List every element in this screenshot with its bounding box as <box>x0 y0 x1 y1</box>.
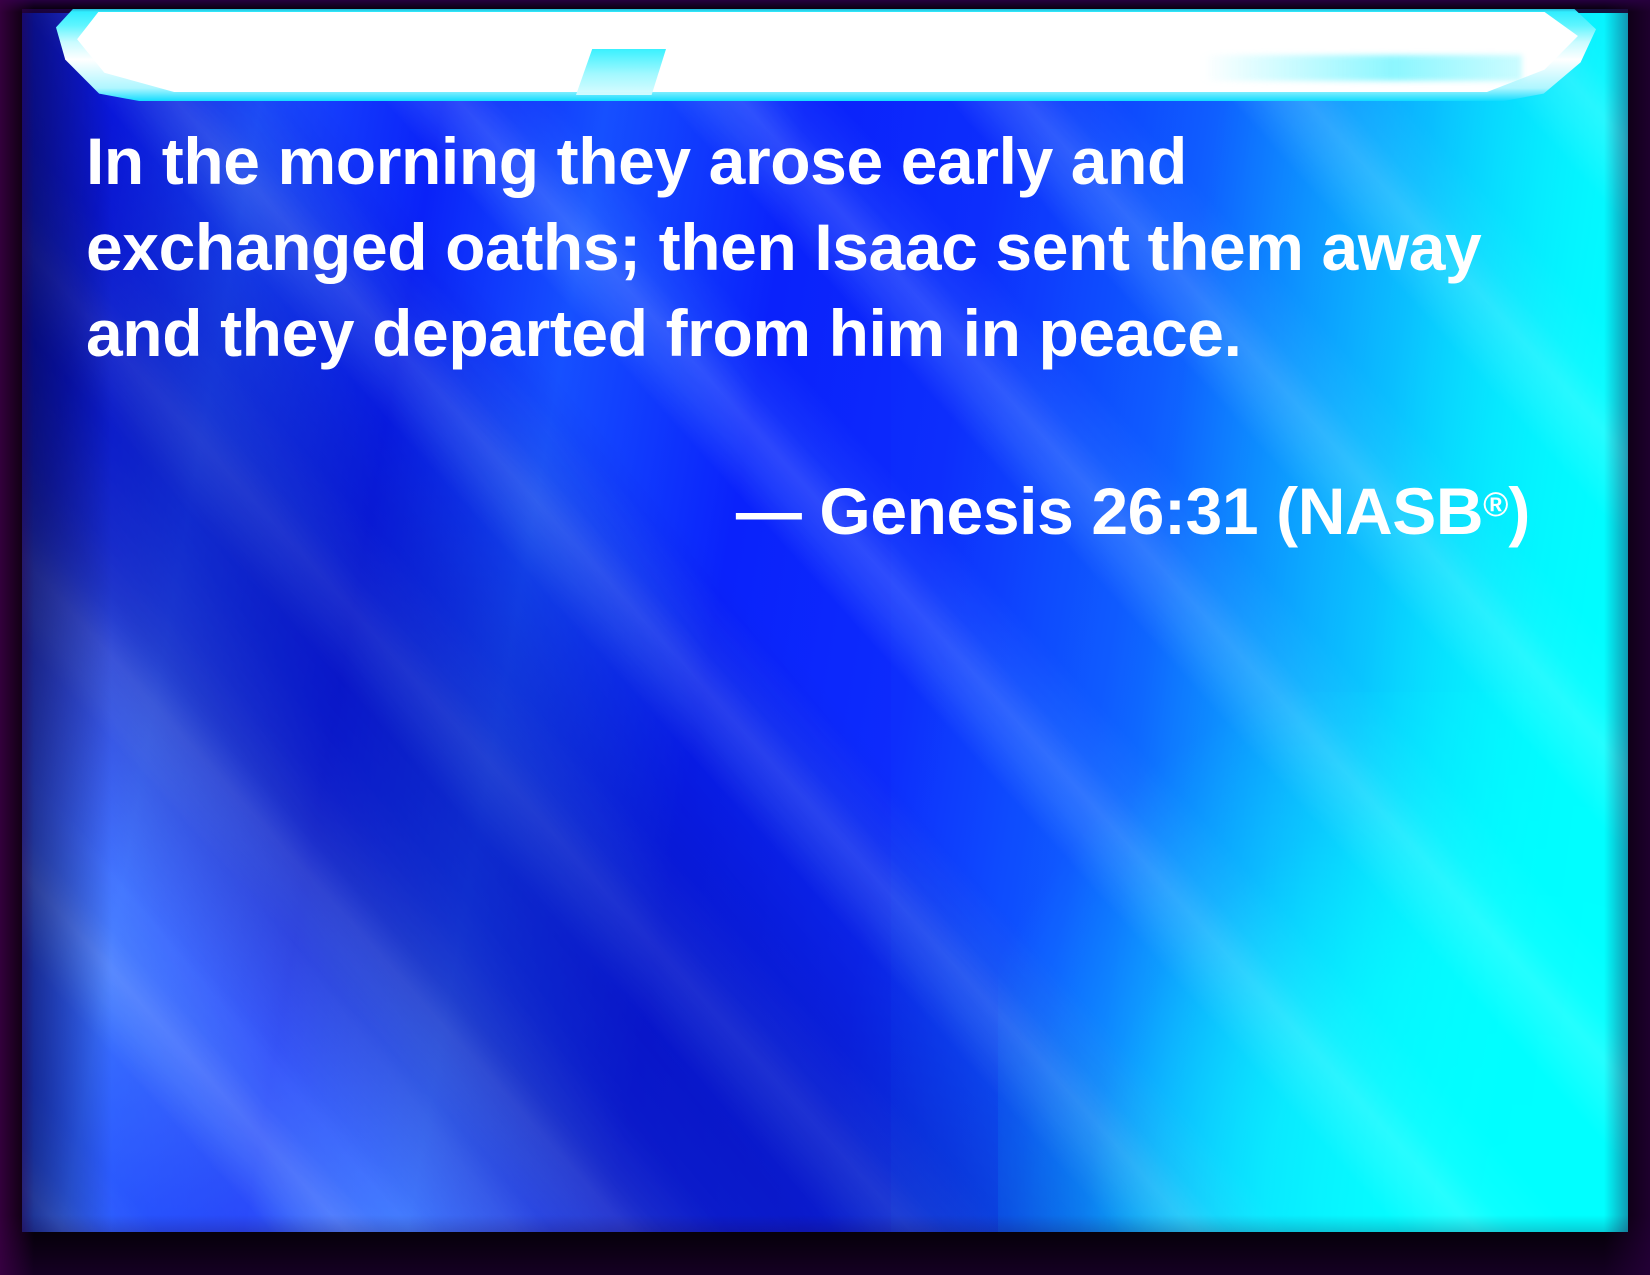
attribution-translation: NASB <box>1298 474 1483 548</box>
verse-slide: In the morning they arose early and exch… <box>0 0 1650 1275</box>
verse-body-text: In the morning they arose early and exch… <box>86 118 1486 376</box>
attribution-close-paren: ) <box>1508 474 1530 548</box>
attribution-book-chapter-verse: Genesis 26:31 <box>819 474 1258 548</box>
registered-trademark-icon: ® <box>1483 486 1508 524</box>
verse-attribution: — Genesis 26:31 (NASB®) <box>0 462 1530 554</box>
attribution-em-dash: — <box>736 474 802 548</box>
attribution-open-paren: ( <box>1276 474 1298 548</box>
